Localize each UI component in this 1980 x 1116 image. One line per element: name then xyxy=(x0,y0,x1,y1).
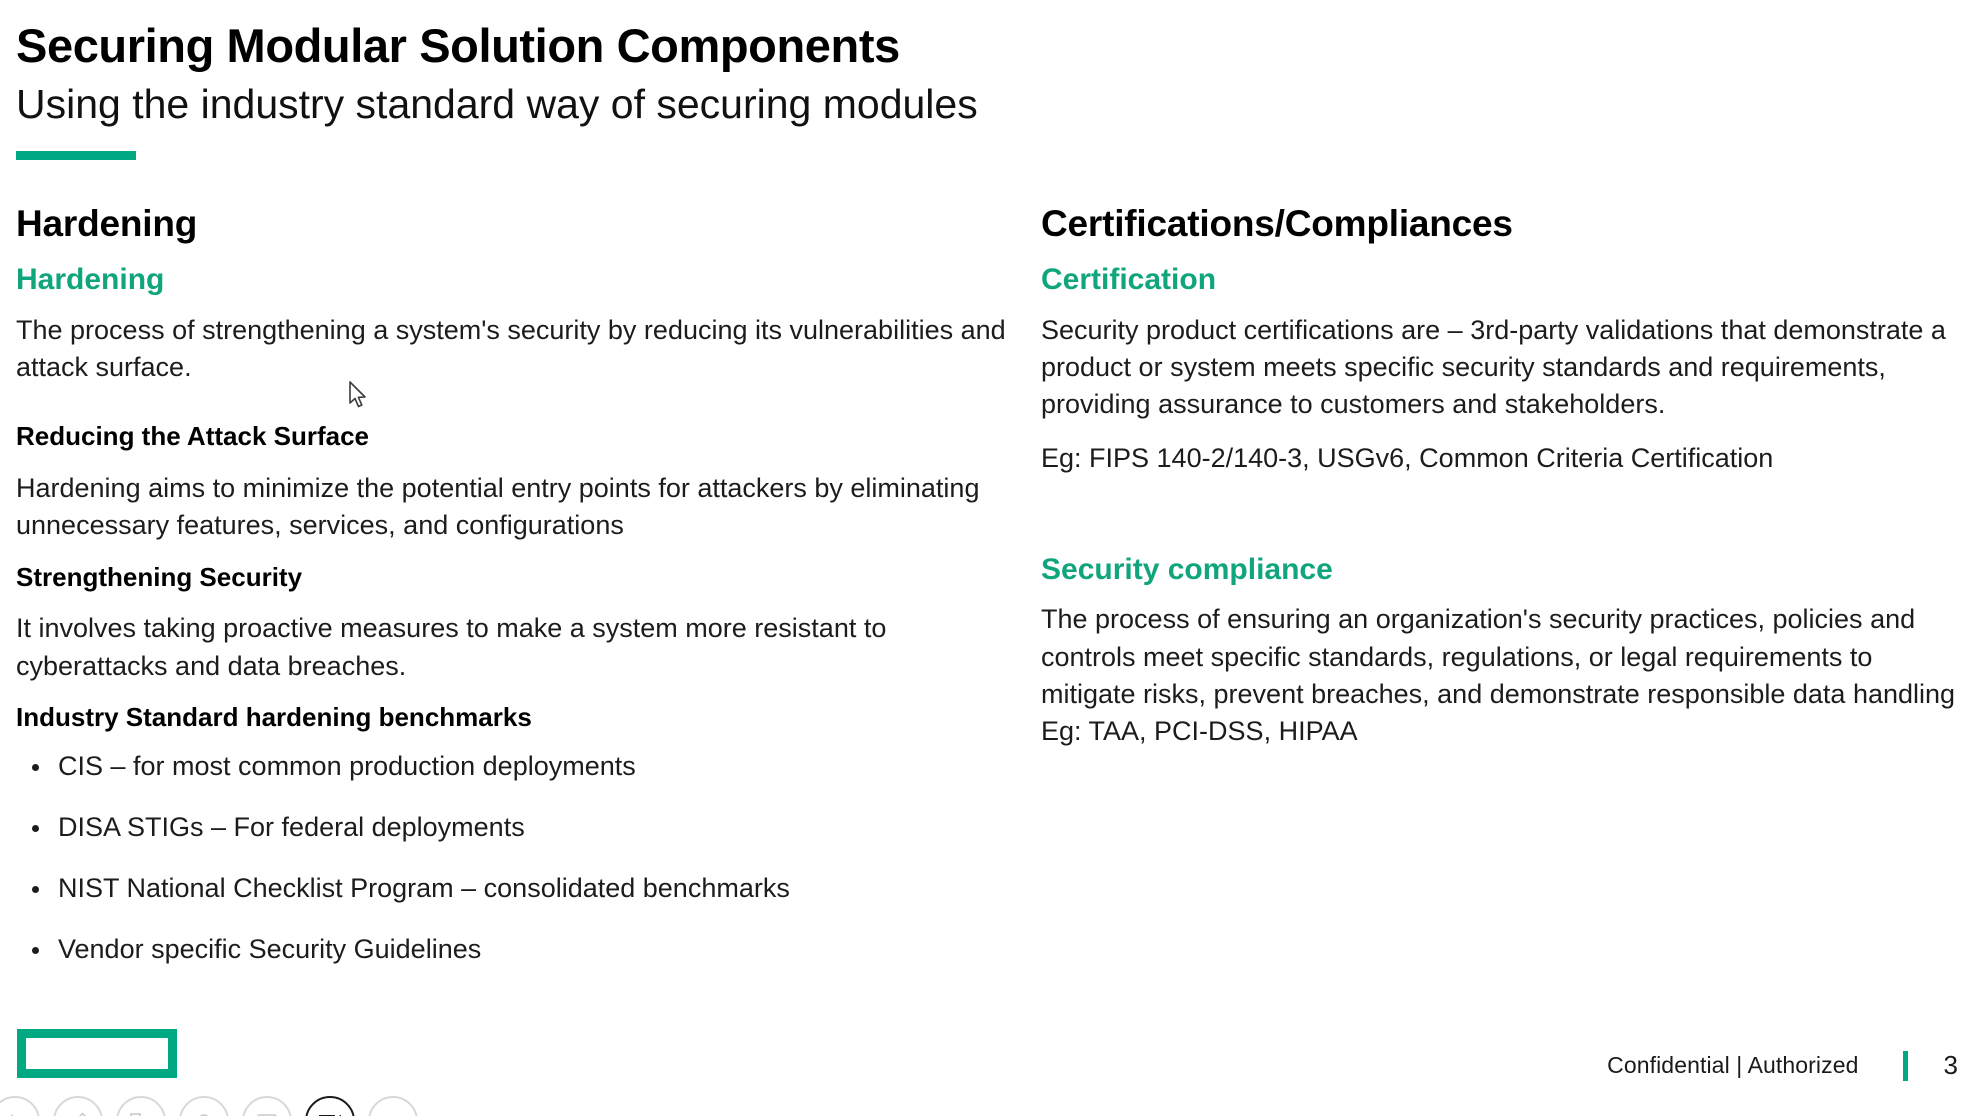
present-play-icon xyxy=(4,1110,26,1116)
list-item: DISA STIGs – For federal deployments xyxy=(16,810,1010,845)
camera-video-icon xyxy=(318,1110,342,1116)
left-sub-heading: Hardening xyxy=(16,261,1010,299)
page-number: 3 xyxy=(1944,1050,1958,1081)
presentation-toolbar[interactable] xyxy=(0,1096,418,1116)
right-column-heading: Certifications/Compliances xyxy=(1041,202,1972,246)
spacer xyxy=(1041,477,1972,551)
certification-definition: Security product certifications are – 3r… xyxy=(1041,312,1972,424)
pen-annotate-button[interactable] xyxy=(53,1096,103,1116)
column-hardening: Hardening Hardening The process of stren… xyxy=(0,202,1040,993)
page-subtitle: Using the industry standard way of secur… xyxy=(16,80,1916,129)
pen-annotate-icon xyxy=(67,1110,89,1116)
page-title: Securing Modular Solution Components xyxy=(16,18,1916,73)
spacer xyxy=(16,454,1010,470)
camera-video-button[interactable] xyxy=(305,1096,355,1116)
screen-share-icon xyxy=(255,1110,279,1116)
slide-canvas: Securing Modular Solution Components Usi… xyxy=(0,0,1980,1116)
list-item: NIST National Checklist Program – consol… xyxy=(16,871,1010,906)
hardening-definition: The process of strengthening a system's … xyxy=(16,312,1010,387)
laser-pointer-icon xyxy=(193,1110,215,1116)
section-text-strengthening-security: It involves taking proactive measures to… xyxy=(16,610,1010,685)
spacer xyxy=(16,685,1010,701)
certification-examples: Eg: FIPS 140-2/140-3, USGv6, Common Crit… xyxy=(1041,440,1972,477)
spacer xyxy=(16,386,1010,420)
classification-label: Confidential | Authorized xyxy=(1607,1052,1858,1079)
accent-bar xyxy=(16,151,136,160)
slide-header: Securing Modular Solution Components Usi… xyxy=(16,18,1916,160)
laser-pointer-button[interactable] xyxy=(179,1096,229,1116)
more-options-icon xyxy=(382,1110,404,1116)
security-compliance-examples: Eg: TAA, PCI-DSS, HIPAA xyxy=(1041,713,1972,750)
spacer xyxy=(1041,424,1972,440)
left-column-heading: Hardening xyxy=(16,202,1010,246)
layout-view-icon xyxy=(129,1110,153,1116)
column-certifications: Certifications/Compliances Certification… xyxy=(1040,202,1980,750)
section-label-strengthening-security: Strengthening Security xyxy=(16,561,1010,595)
content-columns: Hardening Hardening The process of stren… xyxy=(0,202,1980,993)
list-item: Vendor specific Security Guidelines xyxy=(16,932,1010,967)
certification-sub-heading: Certification xyxy=(1041,261,1972,299)
present-play-button[interactable] xyxy=(0,1096,40,1116)
layout-view-button[interactable] xyxy=(116,1096,166,1116)
security-compliance-sub-heading: Security compliance xyxy=(1041,551,1972,589)
section-label-reducing-attack-surface: Reducing the Attack Surface xyxy=(16,420,1010,454)
section-text-reducing-attack-surface: Hardening aims to minimize the potential… xyxy=(16,470,1010,545)
list-item: CIS – for most common production deploym… xyxy=(16,749,1010,784)
screen-share-button[interactable] xyxy=(242,1096,292,1116)
spacer xyxy=(16,545,1010,561)
footer-separator xyxy=(1903,1051,1908,1081)
hpe-logo xyxy=(17,1029,177,1078)
security-compliance-definition: The process of ensuring an organization'… xyxy=(1041,601,1972,713)
more-options-button[interactable] xyxy=(368,1096,418,1116)
benchmarks-label: Industry Standard hardening benchmarks xyxy=(16,701,1010,735)
spacer xyxy=(16,594,1010,610)
footer-meta: Confidential | Authorized 3 xyxy=(1607,1050,1958,1081)
benchmarks-list: CIS – for most common production deploym… xyxy=(16,749,1010,967)
